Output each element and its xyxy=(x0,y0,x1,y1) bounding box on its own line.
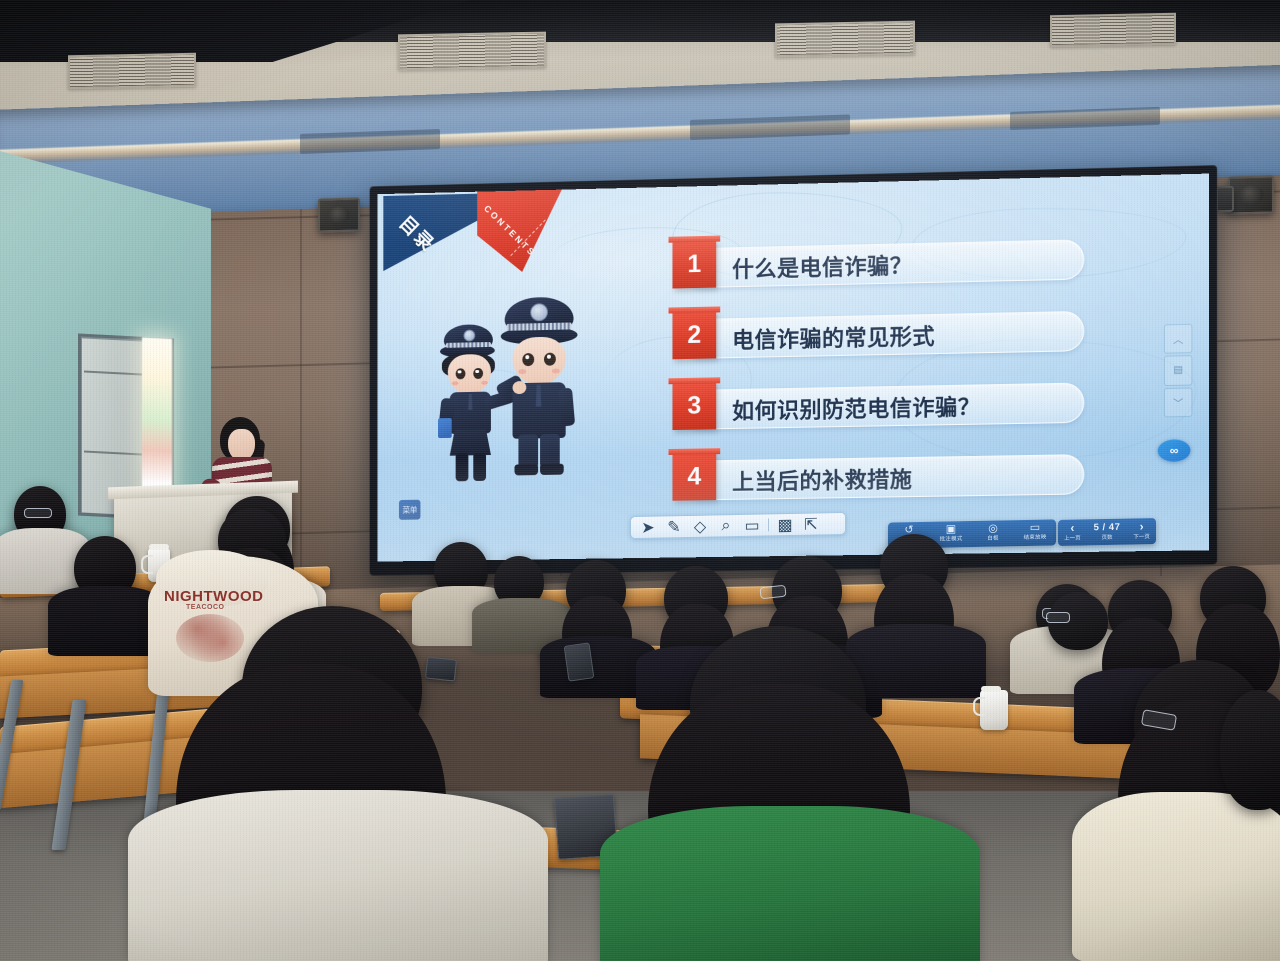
pointer-tool-icon[interactable]: ➤ xyxy=(635,517,661,536)
audience-body xyxy=(846,624,986,698)
end-show-icon: ▭ xyxy=(1014,521,1056,534)
whiteboard-button[interactable]: ◎ 白板 xyxy=(972,522,1014,543)
police-mascots xyxy=(434,292,611,494)
hoodie-graphic xyxy=(176,614,244,662)
page-counter-value: 5 / 47 xyxy=(1087,521,1127,535)
next-page-label: 下一页 xyxy=(1128,533,1156,542)
eraser-tool-icon[interactable]: ◇ xyxy=(687,516,713,535)
toolbar-divider xyxy=(768,518,769,531)
wall-speaker-right xyxy=(1228,175,1274,214)
hoodie-sub-text: TEACOCO xyxy=(186,604,225,611)
ceiling-vent-2 xyxy=(398,32,546,71)
audience-body-foreground xyxy=(128,790,548,961)
pen-tool-icon[interactable]: ✎ xyxy=(661,517,687,536)
contents-item-2-number: 2 xyxy=(673,311,717,360)
phone xyxy=(564,642,595,681)
led-display-screen[interactable]: 目录 CONTENTS xyxy=(377,174,1208,562)
chevron-up-icon[interactable]: ︿ xyxy=(1164,324,1193,354)
lecture-hall-photo: 目录 CONTENTS xyxy=(0,0,1280,961)
next-page-button[interactable]: › 下一页 xyxy=(1128,520,1156,542)
hoodie-brand-text: NIGHTWOOD xyxy=(164,588,264,605)
ceiling-vent-4 xyxy=(1050,13,1176,47)
page-counter-label: 页数 xyxy=(1087,534,1127,543)
zoom-tool-icon[interactable]: ⌕ xyxy=(713,516,739,535)
page-navigation-bar[interactable]: ‹ 上一页 5 / 47 页数 › 下一页 xyxy=(1058,518,1156,546)
ribbon-red-wedge xyxy=(477,186,564,273)
chevron-right-icon: › xyxy=(1128,520,1156,534)
prev-page-button[interactable]: ‹ 上一页 xyxy=(1058,521,1086,543)
ceiling-vent-1 xyxy=(68,53,196,89)
phone xyxy=(425,656,457,681)
contents-item-1-number: 1 xyxy=(673,240,717,289)
slide-side-controls[interactable]: ︿ ▤ ﹀ xyxy=(1164,324,1193,418)
slide-menu-button[interactable]: 菜单 xyxy=(399,500,420,520)
prev-page-label: 上一页 xyxy=(1058,534,1086,543)
contents-item-3-label: 如何识别防范电信诈骗？ xyxy=(732,386,980,429)
qrcode-tool-icon[interactable]: ▩ xyxy=(772,515,798,534)
contents-ribbon: 目录 CONTENTS xyxy=(383,191,569,286)
contents-item-2-label: 电信诈骗的常见形式 xyxy=(732,316,935,358)
contents-item-3[interactable]: 3 如何识别防范电信诈骗？ xyxy=(665,374,1085,438)
end-show-label: 结束放映 xyxy=(1014,533,1056,542)
annotate-button[interactable]: ▣ 批注模式 xyxy=(930,523,972,544)
contents-item-4-number: 4 xyxy=(673,452,717,501)
end-show-button[interactable]: ▭ 结束放映 xyxy=(1014,521,1056,542)
whiteboard-icon: ◎ xyxy=(972,522,1014,535)
audience-body-foreground-green xyxy=(600,806,980,961)
ceiling-vent-3 xyxy=(775,21,915,58)
wall-speaker-left xyxy=(318,197,360,232)
contents-item-1[interactable]: 1 什么是电信诈骗？ xyxy=(665,231,1085,297)
chevron-down-icon[interactable]: ﹀ xyxy=(1164,387,1193,417)
wall-speaker-right-2 xyxy=(1216,186,1234,212)
annotation-toolbar[interactable]: ➤ ✎ ◇ ⌕ ▭ ▩ ⇱ xyxy=(630,512,846,539)
page-thumbnail-icon[interactable]: ▤ xyxy=(1164,355,1193,385)
brand-logo-badge: ∞ xyxy=(1158,439,1191,462)
glasses-icon xyxy=(24,508,52,518)
whiteboard-label: 白板 xyxy=(972,534,1014,543)
contents-item-4-label: 上当后的补救措施 xyxy=(732,459,912,500)
annotate-icon: ▣ xyxy=(930,523,972,536)
male-police-cartoon xyxy=(495,292,593,488)
glasses-icon xyxy=(1046,612,1070,623)
contents-list: 1 什么是电信诈骗？ 2 电信诈骗的常见形式 3 如何识别防范电信诈骗？ 4 上… xyxy=(665,231,1085,524)
contents-item-3-number: 3 xyxy=(673,381,717,430)
contents-item-1-label: 什么是电信诈骗？ xyxy=(732,245,912,287)
chevron-left-icon: ‹ xyxy=(1058,521,1086,535)
share-tool-icon[interactable]: ⇱ xyxy=(798,514,824,533)
display-tool-icon[interactable]: ▭ xyxy=(739,515,765,534)
contents-item-4[interactable]: 4 上当后的补救措施 xyxy=(665,446,1085,509)
audience-body-foreground xyxy=(1072,792,1280,961)
drink-cup xyxy=(980,690,1008,730)
contents-item-2[interactable]: 2 电信诈骗的常见形式 xyxy=(665,303,1085,368)
page-counter: 5 / 47 页数 xyxy=(1087,521,1127,543)
audience-body xyxy=(48,586,164,656)
